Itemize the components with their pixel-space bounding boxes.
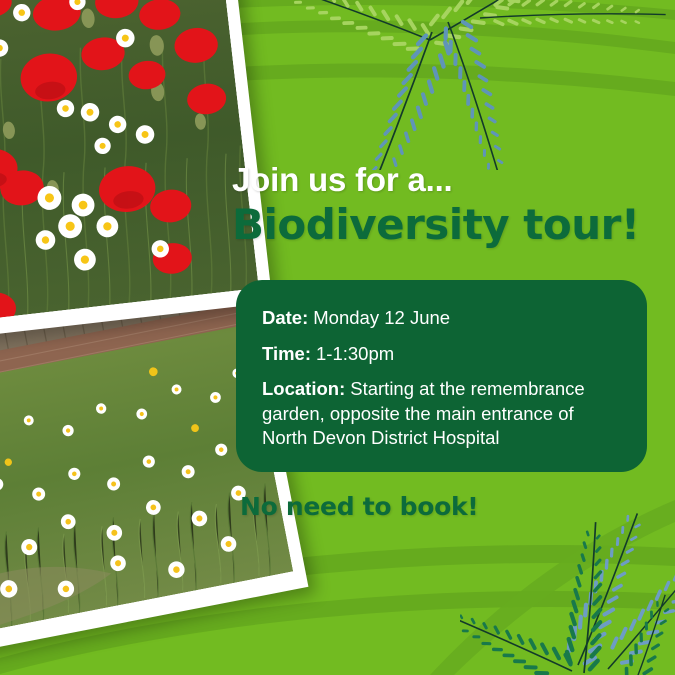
fern-decoration-bottom-right [460, 455, 675, 675]
event-detail-location: Location:Starting at the remembrance gar… [262, 377, 623, 451]
event-details-card: Date:Monday 12 June Time:1-1:30pm Locati… [236, 280, 647, 472]
event-detail-time: Time:1-1:30pm [262, 342, 623, 367]
poster-canvas: Join us for a... Biodiversity tour! Date… [0, 0, 675, 675]
location-label: Location: [262, 378, 345, 399]
date-value: Monday 12 June [313, 307, 450, 328]
event-detail-date: Date:Monday 12 June [262, 306, 623, 331]
no-booking-required-note: No need to book! [240, 492, 478, 521]
time-value: 1-1:30pm [316, 343, 394, 364]
time-label: Time: [262, 343, 311, 364]
headline-block: Join us for a... Biodiversity tour! [232, 163, 639, 248]
headline-line-1: Join us for a... [232, 163, 639, 198]
photo-poppies-image [0, 0, 259, 322]
date-label: Date: [262, 307, 308, 328]
headline-line-2: Biodiversity tour! [232, 201, 639, 248]
